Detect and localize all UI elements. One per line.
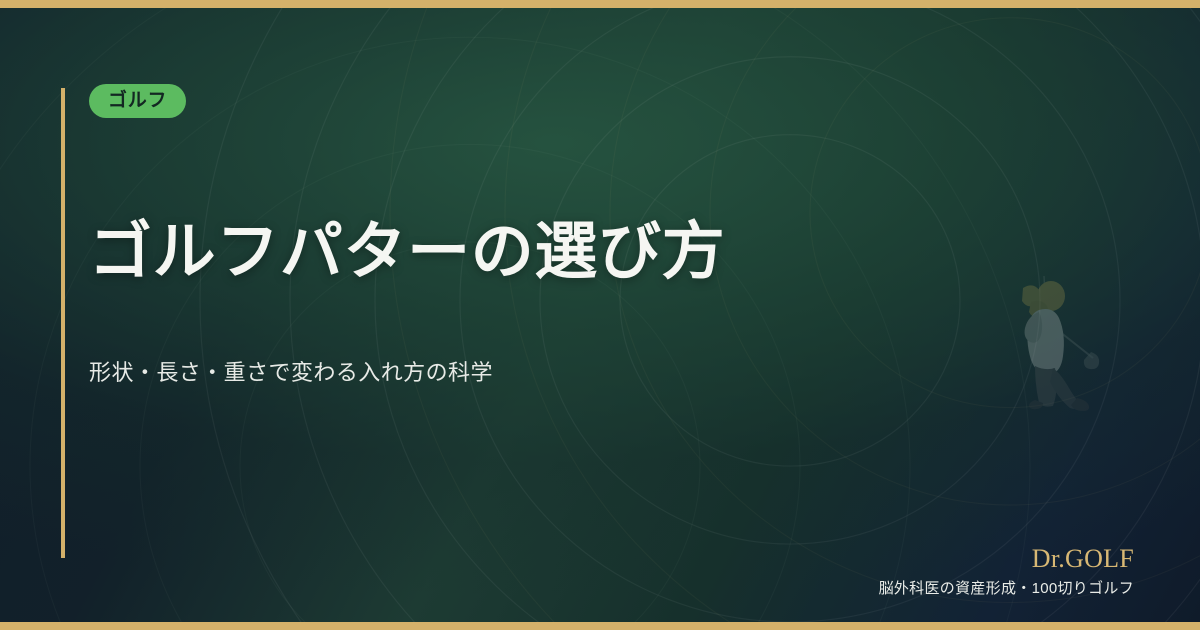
ogp-card: ゴルフ ゴルフパターの選び方 形状・長さ・重さで変わる入れ方の科学 Dr.GOL… <box>0 0 1200 630</box>
golfer-silhouette-icon <box>995 266 1110 411</box>
page-subtitle: 形状・長さ・重さで変わる入れ方の科学 <box>89 356 493 389</box>
gold-accent-bar <box>61 88 65 558</box>
page-title: ゴルフパターの選び方 <box>89 215 725 289</box>
brand-name: Dr.GOLF <box>879 543 1134 576</box>
brand-tagline: 脳外科医の資産形成・100切りゴルフ <box>879 578 1134 601</box>
brand-block: Dr.GOLF 脳外科医の資産形成・100切りゴルフ <box>879 543 1134 600</box>
card-content: ゴルフ ゴルフパターの選び方 形状・長さ・重さで変わる入れ方の科学 <box>89 84 889 118</box>
category-badge[interactable]: ゴルフ <box>89 84 186 118</box>
